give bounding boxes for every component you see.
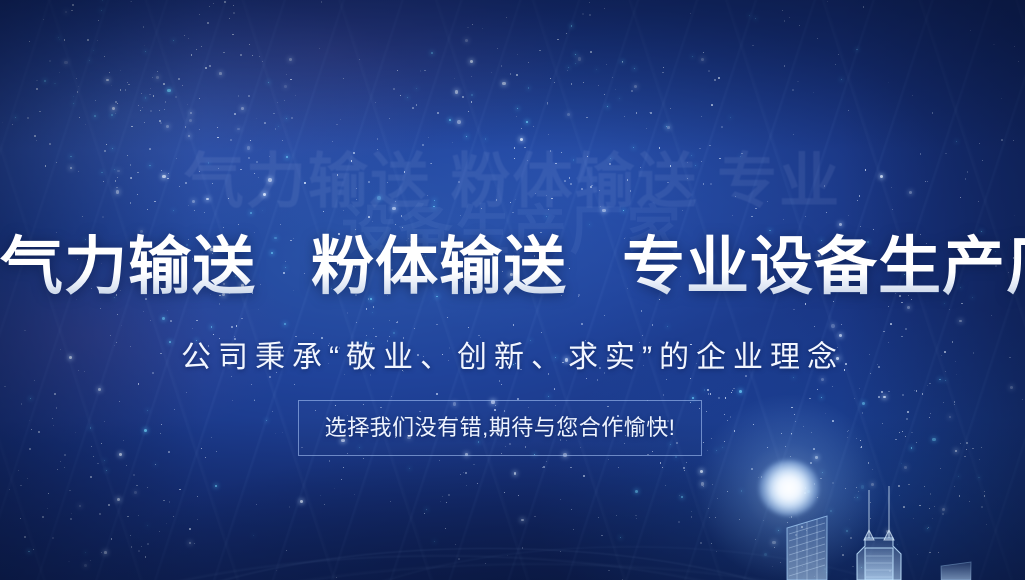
headline-part-2: 粉体输送	[311, 232, 567, 302]
headline: 气力输送 粉体输送 专业设备生产厂家	[0, 232, 1025, 302]
headline-part-3: 专业设备生产厂家	[622, 232, 1025, 302]
hero-banner: 气力输送 粉体输送 专业 设备生产厂家 气力输送 粉体输送 专业设备生产厂家 公…	[0, 0, 1025, 580]
cta-box[interactable]: 选择我们没有错,期待与您合作愉快!	[298, 400, 702, 456]
headline-part-1: 气力输送	[0, 232, 256, 302]
banner-content: 气力输送 粉体输送 专业设备生产厂家 公司秉承“敬业、创新、求实”的企业理念 选…	[0, 0, 1025, 580]
subtitle: 公司秉承“敬业、创新、求实”的企业理念	[0, 338, 1025, 378]
cta-text: 选择我们没有错,期待与您合作愉快!	[325, 414, 676, 442]
